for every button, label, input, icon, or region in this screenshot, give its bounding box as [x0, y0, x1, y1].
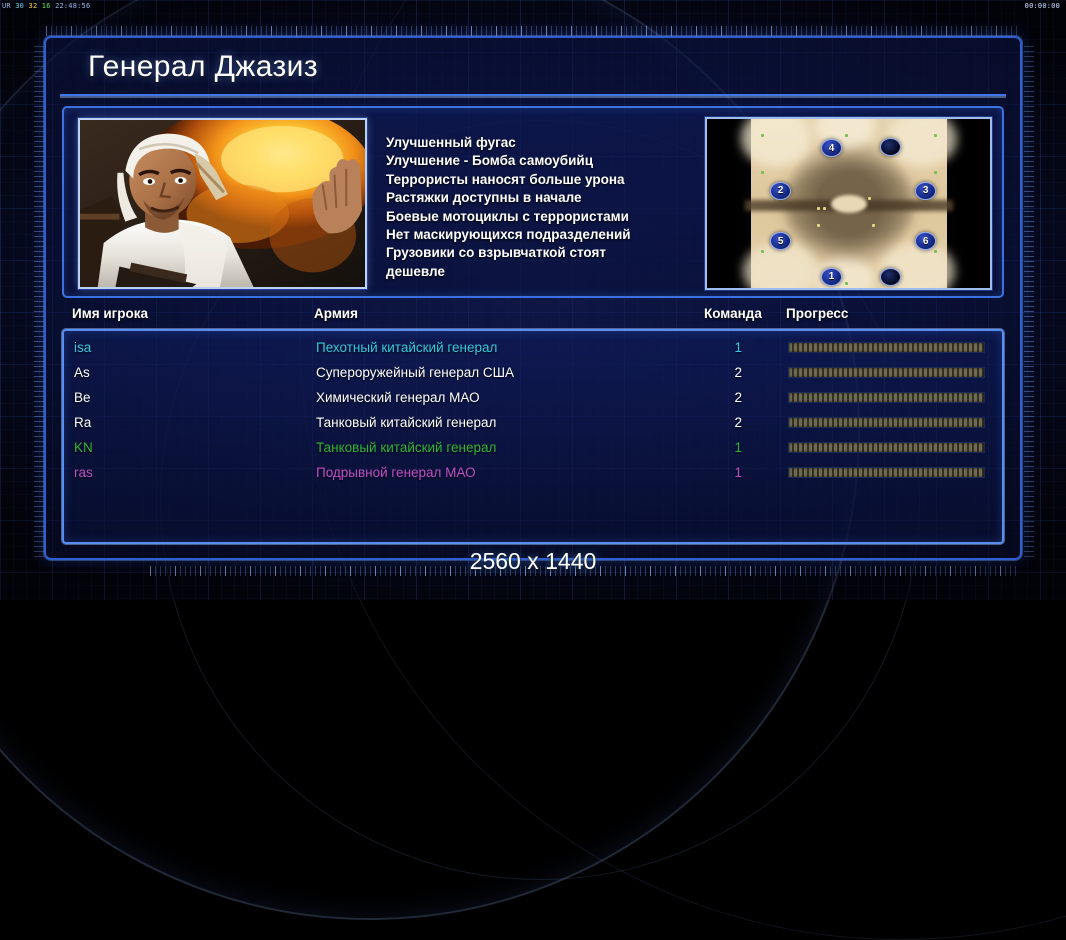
table-row: KN Танковый китайский генерал 1: [64, 435, 1002, 460]
start-position-label: 5: [778, 236, 784, 247]
player-name: As: [74, 360, 90, 385]
top-status-bar: UR 30 32 16 22:48:56 00:00:00: [0, 0, 1066, 12]
player-army: Подрывной генерал МАО: [316, 460, 476, 485]
ruler-top: [46, 26, 1020, 36]
player-army: Танковый китайский генерал: [316, 410, 496, 435]
general-info-panel: Улучшенный фугас Улучшение - Бомба самоу…: [62, 106, 1004, 298]
description-line: Улучшенный фугас: [386, 134, 686, 152]
player-progress: [788, 360, 985, 386]
description-line: Грузовики со взрывчаткой стоят: [386, 244, 686, 262]
description-line: Нет маскирующихся подразделений: [386, 226, 686, 244]
column-header-player-name: Имя игрока: [72, 306, 148, 321]
minimap-start-position[interactable]: 5: [770, 232, 791, 250]
minimap-start-position[interactable]: [880, 268, 901, 286]
start-position-label: 2: [778, 185, 784, 196]
portrait-artwork: [80, 120, 365, 287]
progress-bar: [788, 467, 985, 478]
minimap: 4 2 3 5 6 1: [705, 117, 992, 290]
progress-bar: [788, 442, 985, 453]
table-row: Be Химический генерал МАО 2: [64, 385, 1002, 410]
minimap-start-position[interactable]: 6: [915, 232, 936, 250]
progress-bar: [788, 417, 985, 428]
minimap-start-position[interactable]: 2: [770, 182, 791, 200]
player-progress: [788, 385, 985, 411]
page-title: Генерал Джазиз: [88, 50, 318, 84]
column-header-progress: Прогресс: [786, 306, 848, 321]
player-progress: [788, 435, 985, 461]
player-progress: [788, 410, 985, 436]
description-line: Террористы наносят больше урона: [386, 171, 686, 189]
table-row: As Супероружейный генерал США 2: [64, 360, 1002, 385]
general-description: Улучшенный фугас Улучшение - Бомба самоу…: [386, 134, 686, 281]
debug-value-b: 32: [29, 2, 38, 10]
debug-value-c: 16: [42, 2, 51, 10]
player-team: 2: [706, 385, 742, 410]
ruler-left: [34, 46, 44, 558]
start-position-label: 1: [829, 271, 835, 282]
minimap-start-position[interactable]: 1: [821, 268, 842, 286]
player-army: Химический генерал МАО: [316, 385, 480, 410]
minimap-terrain: 4 2 3 5 6 1: [751, 119, 947, 288]
general-portrait: [78, 118, 367, 289]
player-team: 1: [706, 460, 742, 485]
player-name: Be: [74, 385, 91, 410]
column-header-team: Команда: [704, 306, 762, 321]
minimap-start-position[interactable]: 4: [821, 139, 842, 157]
player-table: isa Пехотный китайский генерал 1 As Супе…: [62, 329, 1004, 544]
ruler-right: [1024, 46, 1034, 558]
resolution-label: 2560 x 1440: [0, 548, 1066, 575]
player-team: 1: [706, 335, 742, 360]
table-row: isa Пехотный китайский генерал 1: [64, 335, 1002, 360]
description-line: дешевле: [386, 263, 686, 281]
progress-bar: [788, 342, 985, 353]
debug-value-a: 30: [15, 2, 24, 10]
description-line: Растяжки доступны в начале: [386, 189, 686, 207]
description-line: Улучшение - Бомба самоубийц: [386, 152, 686, 170]
debug-timestamp: 22:48:56: [55, 2, 90, 10]
player-team: 1: [706, 435, 742, 460]
player-name: KN: [74, 435, 93, 460]
start-position-label: 3: [923, 185, 929, 196]
loading-screen-panel: Генерал Джазиз: [44, 36, 1022, 560]
player-progress: [788, 460, 985, 486]
player-army: Пехотный китайский генерал: [316, 335, 497, 360]
title-bar: Генерал Джазиз: [60, 48, 1006, 96]
description-line: Боевые мотоциклы с террористами: [386, 208, 686, 226]
player-name: Ra: [74, 410, 91, 435]
column-header-army: Армия: [314, 306, 358, 321]
debug-prefix: UR: [2, 2, 11, 10]
player-progress: [788, 335, 985, 361]
player-team: 2: [706, 410, 742, 435]
debug-readout: UR 30 32 16 22:48:56: [2, 0, 90, 12]
table-row: Ra Танковый китайский генерал 2: [64, 410, 1002, 435]
player-name: ras: [74, 460, 93, 485]
player-table-header: Имя игрока Армия Команда Прогресс: [62, 306, 1004, 328]
progress-bar: [788, 392, 985, 403]
player-team: 2: [706, 360, 742, 385]
session-clock: 00:00:00: [1025, 0, 1060, 12]
player-army: Супероружейный генерал США: [316, 360, 514, 385]
start-position-label: 6: [923, 236, 929, 247]
minimap-start-position[interactable]: [880, 138, 901, 156]
player-name: isa: [74, 335, 91, 360]
table-row: ras Подрывной генерал МАО 1: [64, 460, 1002, 485]
minimap-start-position[interactable]: 3: [915, 182, 936, 200]
progress-bar: [788, 367, 985, 378]
player-army: Танковый китайский генерал: [316, 435, 496, 460]
start-position-label: 4: [829, 143, 835, 154]
